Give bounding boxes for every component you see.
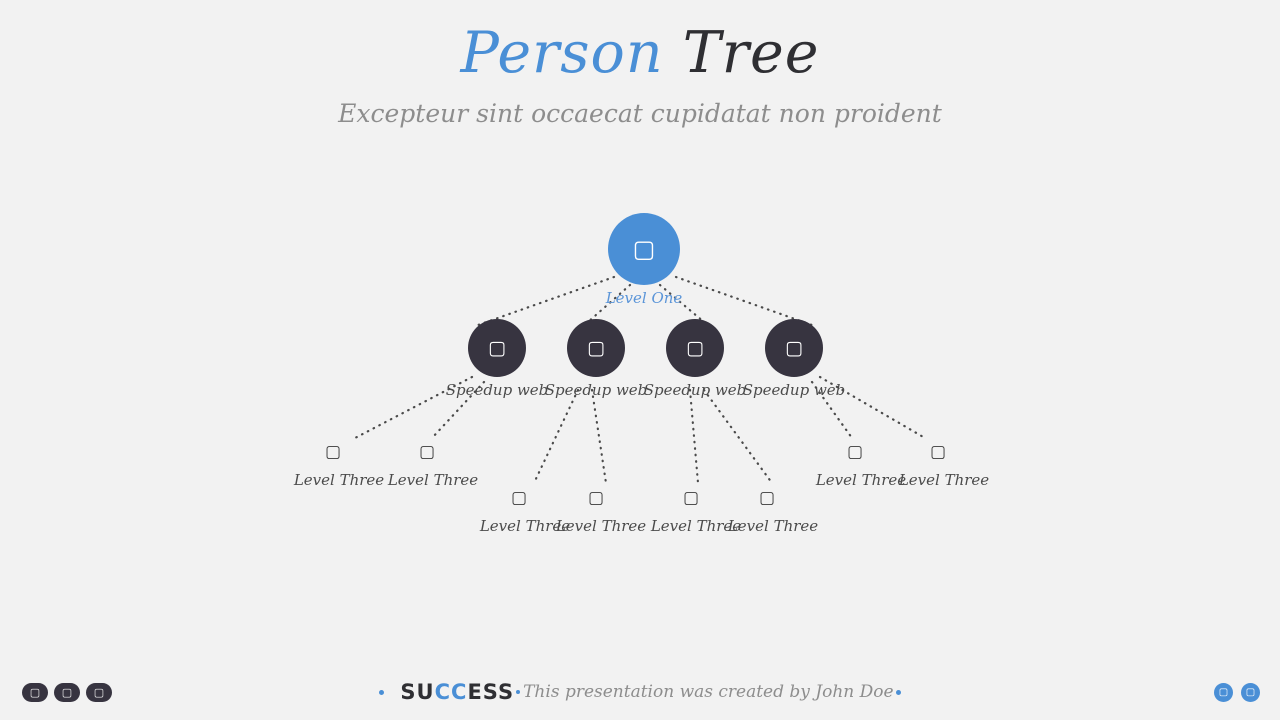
tree-node-level-three-6-label: Level Three — [728, 517, 818, 535]
brand-part-2: ESS — [467, 680, 514, 704]
tree-node-level-three-2-label: Level Three — [388, 471, 478, 489]
connector-n3-to-c5 — [690, 390, 698, 483]
footer-nav-prev[interactable]: ▢ — [1214, 683, 1233, 702]
tree-node-level-two-3-label: Speedup web — [644, 381, 747, 399]
missing-glyph-icon: ▢ — [511, 490, 527, 507]
slide-canvas: Person Tree Excepteur sint occaecat cupi… — [0, 0, 1280, 720]
tree-node-level-two-2-label: Speedup web — [545, 381, 648, 399]
tree-node-level-three-8-label: Level Three — [899, 471, 989, 489]
page-title-primary: Person — [461, 20, 664, 86]
tree-node-level-two-1[interactable]: ▢ — [468, 319, 526, 377]
tree-node-level-three-6[interactable]: ▢ — [754, 485, 780, 511]
footer-center: SUCCESS This presentation was created by… — [0, 680, 1280, 704]
tree-node-level-two-3[interactable]: ▢ — [666, 319, 724, 377]
tree-node-level-three-7-label: Level Three — [816, 471, 906, 489]
page-title-secondary: Tree — [683, 20, 820, 86]
tree-node-level-three-5[interactable]: ▢ — [678, 485, 704, 511]
connector-root-to-n1 — [478, 277, 614, 325]
missing-glyph-icon: ▢ — [633, 237, 656, 261]
missing-glyph-icon: ▢ — [930, 444, 946, 461]
footer-nav-next[interactable]: ▢ — [1241, 683, 1260, 702]
footer-note: This presentation was created by John Do… — [523, 682, 893, 702]
brand-part-1: SU — [400, 680, 434, 704]
tree-node-root[interactable]: ▢ — [608, 213, 680, 285]
missing-glyph-icon: ▢ — [683, 490, 699, 507]
tree-node-level-three-4-label: Level Three — [556, 517, 646, 535]
tree-node-level-two-4-label: Speedup web — [743, 381, 846, 399]
missing-glyph-icon: ▢ — [686, 339, 704, 358]
page-subtitle: Excepteur sint occaecat cupidatat non pr… — [0, 98, 1280, 130]
tree-node-level-three-4[interactable]: ▢ — [583, 485, 609, 511]
connector-n2-to-c4 — [592, 390, 606, 483]
footer-note-dot-icon — [896, 690, 901, 695]
connector-n3-to-c6 — [704, 390, 772, 483]
missing-glyph-icon: ▢ — [587, 339, 605, 358]
connector-n2-to-c3 — [534, 390, 578, 483]
missing-glyph-icon: ▢ — [488, 339, 506, 358]
tree-node-level-three-1[interactable]: ▢ — [320, 439, 346, 465]
connector-root-to-n4 — [676, 277, 812, 325]
slide-header: Person Tree Excepteur sint occaecat cupi… — [0, 18, 1280, 130]
footer-nav-prev-icon: ▢ — [1219, 688, 1228, 698]
missing-glyph-icon: ▢ — [759, 490, 775, 507]
missing-glyph-icon: ▢ — [419, 444, 435, 461]
bullet-dot-icon — [379, 690, 384, 695]
tree-node-root-label: Level One — [606, 289, 683, 307]
missing-glyph-icon: ▢ — [785, 339, 803, 358]
brand-logo: SUCCESS — [400, 680, 514, 704]
tree-node-level-two-2[interactable]: ▢ — [567, 319, 625, 377]
brand-part-accent: CC — [435, 680, 468, 704]
tree-node-level-three-8[interactable]: ▢ — [925, 439, 951, 465]
tree-node-level-three-1-label: Level Three — [294, 471, 384, 489]
tree-node-level-three-7[interactable]: ▢ — [842, 439, 868, 465]
brand-separator-dot-icon — [516, 690, 520, 694]
tree-node-level-three-3[interactable]: ▢ — [506, 485, 532, 511]
footer-nav-next-icon: ▢ — [1246, 688, 1255, 698]
tree-node-level-three-2[interactable]: ▢ — [414, 439, 440, 465]
page-title: Person Tree — [0, 18, 1280, 88]
tree-node-level-two-4[interactable]: ▢ — [765, 319, 823, 377]
missing-glyph-icon: ▢ — [588, 490, 604, 507]
tree-node-level-two-1-label: Speedup web — [446, 381, 549, 399]
missing-glyph-icon: ▢ — [847, 444, 863, 461]
footer-right-controls: ▢ ▢ — [1214, 683, 1260, 702]
missing-glyph-icon: ▢ — [325, 444, 341, 461]
